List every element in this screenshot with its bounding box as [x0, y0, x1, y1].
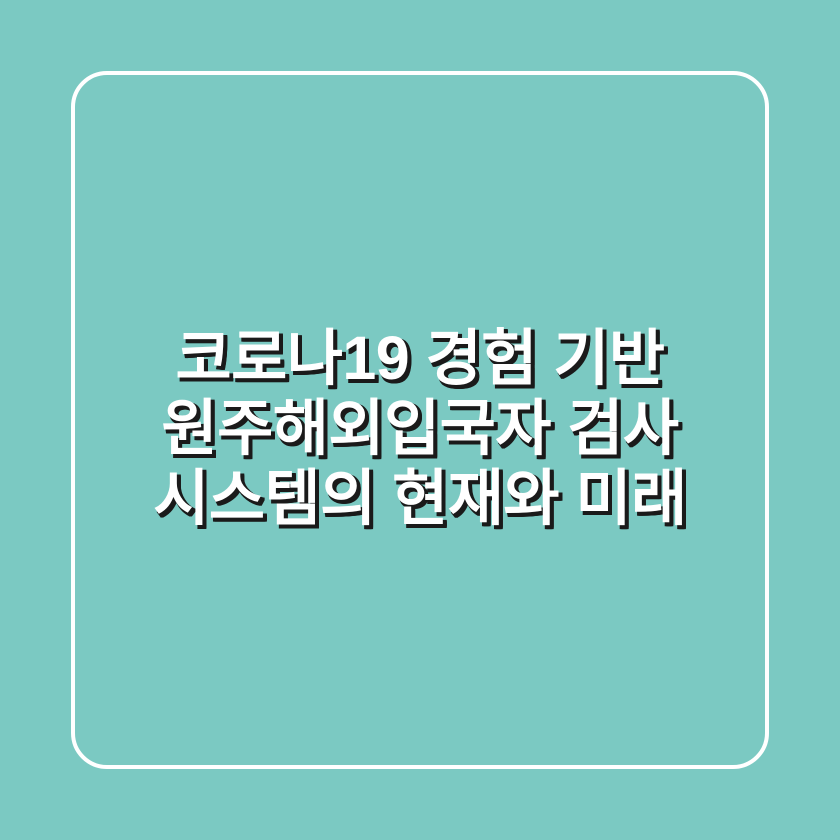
title-line-1: 코로나19 경험 기반 — [50, 323, 790, 393]
title-line-2: 원주해외입국자 검사 — [50, 393, 790, 463]
title-block: 코로나19 경험 기반 원주해외입국자 검사 시스템의 현재와 미래 — [50, 323, 790, 533]
title-line-3: 시스템의 현재와 미래 — [50, 463, 790, 533]
thumbnail-card: 코로나19 경험 기반 원주해외입국자 검사 시스템의 현재와 미래 — [0, 0, 840, 840]
